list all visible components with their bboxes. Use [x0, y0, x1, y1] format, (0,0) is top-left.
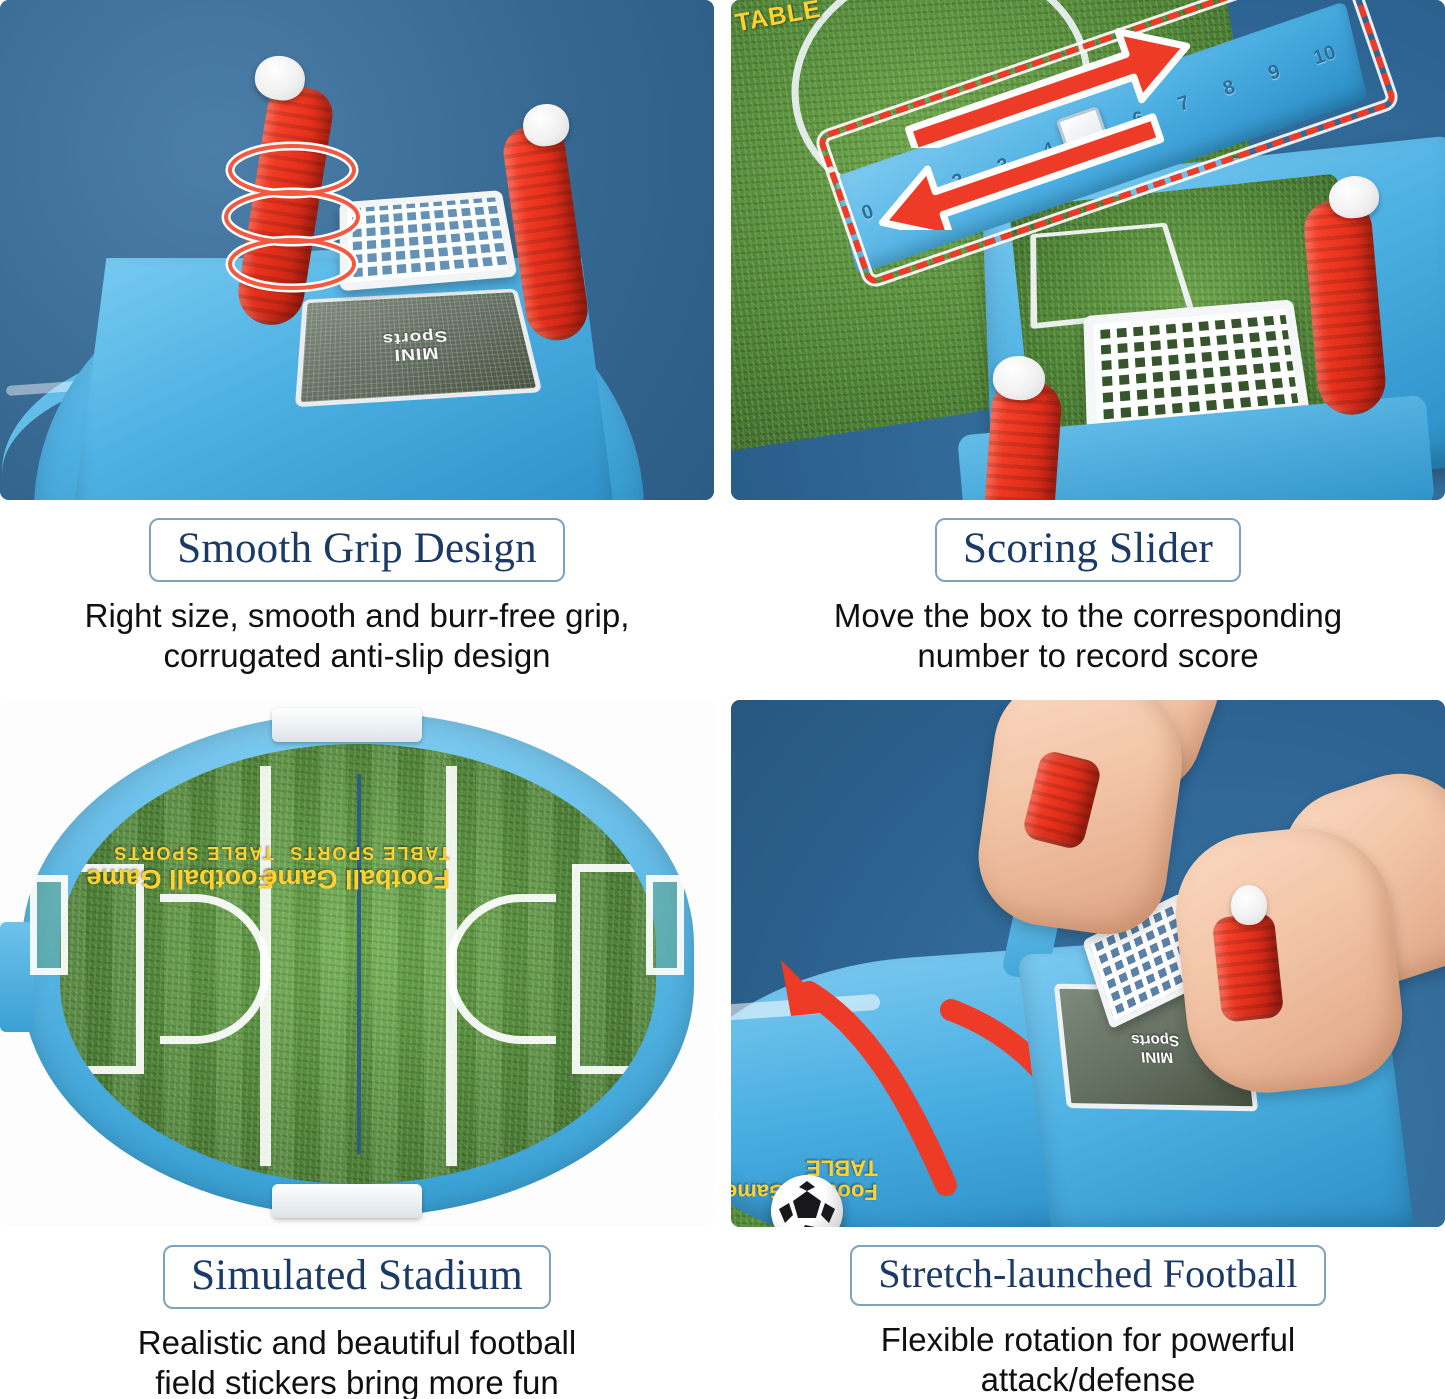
feature-title: Scoring Slider	[963, 525, 1213, 572]
brand-plaque-text: MINI Sports	[1130, 1031, 1181, 1065]
brand-plaque-text: MINI Sports	[381, 327, 450, 363]
feature-description: Flexible rotation for powerful attack/de…	[731, 1320, 1445, 1399]
handle-cap-right	[1231, 885, 1267, 925]
description-line-1: Realistic and beautiful football	[138, 1324, 576, 1361]
feature-cell-smooth-grip-design: MINI Sports	[0, 0, 714, 690]
feature-description: Right size, smooth and burr-free grip, c…	[0, 596, 714, 677]
field-sticker-left: Football Game TABLE SPORTS	[86, 842, 274, 894]
brand-line-1: MINI	[393, 344, 439, 364]
description-line-2: attack/defense	[981, 1361, 1196, 1398]
frame-clip-bottom	[272, 1184, 422, 1218]
goal-left	[30, 875, 68, 975]
brand-plaque: MINI Sports	[295, 289, 543, 408]
arrow-left-annotation	[851, 100, 1181, 230]
penalty-box-right	[572, 864, 656, 1074]
feature-photo-simulated-stadium: Football Game TABLE SPORTS Football Game…	[0, 700, 714, 1227]
toy-grass-field: Football Game TABLE SPORTS Football Game…	[60, 744, 656, 1184]
description-line-2: number to record score	[917, 637, 1258, 674]
caption-simulated-stadium: Simulated Stadium Realistic and beautifu…	[0, 1227, 714, 1399]
feature-photo-scoring-slider: TABLE 0 1 2 3 4 5 6 7 8 9 10	[731, 0, 1445, 500]
caption-smooth-grip-design: Smooth Grip Design Right size, smooth an…	[0, 500, 714, 677]
feature-title-box: Simulated Stadium	[163, 1245, 551, 1309]
feature-photo-stretch-launched-football: Football Game TABLE	[731, 700, 1445, 1227]
caption-scoring-slider: Scoring Slider Move the box to the corre…	[731, 500, 1445, 677]
description-line-2: corrugated anti-slip design	[163, 637, 550, 674]
penalty-box-left	[60, 864, 144, 1074]
feature-photo-smooth-grip-design: MINI Sports	[0, 0, 714, 500]
brand-line-2: Sports	[381, 327, 448, 347]
feature-title: Smooth Grip Design	[177, 525, 537, 572]
goal-net	[339, 190, 517, 291]
field-sticker-left-line-2: TABLE SPORTS	[86, 842, 274, 863]
feature-cell-scoring-slider: TABLE 0 1 2 3 4 5 6 7 8 9 10	[731, 0, 1445, 690]
feature-title: Stretch-launched Football	[878, 1251, 1297, 1296]
caption-stretch-launched-football: Stretch-launched Football Flexible rotat…	[731, 1227, 1445, 1399]
field-center-line	[357, 774, 361, 1154]
brand-line-2: Sports	[1130, 1031, 1180, 1049]
toy-hinge	[0, 922, 34, 1032]
frame-clip-top	[272, 708, 422, 742]
description-line-1: Right size, smooth and burr-free grip,	[85, 597, 630, 634]
feature-cell-stretch-launched-football: Football Game TABLE	[731, 700, 1445, 1399]
red-grip-handle-right	[1212, 912, 1285, 1023]
brand-line-1: MINI	[1140, 1048, 1174, 1065]
field-sticker-right-line-1: Football Game	[262, 863, 450, 894]
product-feature-sheet: MINI Sports	[0, 0, 1445, 1399]
description-line-2: field stickers bring more fun	[155, 1364, 559, 1399]
description-line-1: Flexible rotation for powerful	[881, 1321, 1296, 1358]
description-line-1: Move the box to the corresponding	[834, 597, 1342, 634]
field-sticker-right-line-2: TABLE SPORTS	[262, 842, 450, 863]
feature-cell-simulated-stadium: Football Game TABLE SPORTS Football Game…	[0, 700, 714, 1399]
feature-title: Simulated Stadium	[191, 1252, 523, 1299]
field-sticker-right: Football Game TABLE SPORTS	[262, 842, 450, 894]
feature-description: Move the box to the corresponding number…	[731, 596, 1445, 677]
field-sticker-left-line-1: Football Game	[86, 863, 274, 894]
feature-title-box: Stretch-launched Football	[850, 1245, 1325, 1306]
feature-description: Realistic and beautiful football field s…	[0, 1323, 714, 1399]
feature-title-box: Smooth Grip Design	[149, 518, 565, 582]
feature-title-box: Scoring Slider	[935, 518, 1241, 582]
goal-right	[646, 875, 684, 975]
